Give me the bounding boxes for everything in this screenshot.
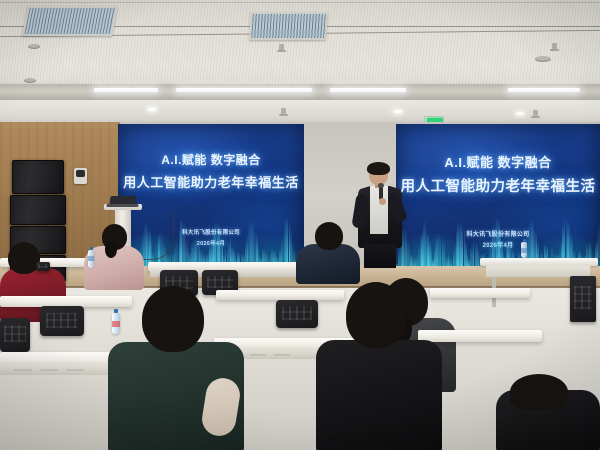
stacking-chair (276, 300, 318, 328)
downlight (394, 110, 402, 113)
attendee-head (315, 222, 343, 250)
screen-title-line1: A.I.赋能 数字融合 (118, 151, 304, 168)
attendee-head (142, 286, 204, 352)
attendee (316, 282, 442, 450)
ceiling-seam (0, 2, 600, 3)
speaker-cabinet (12, 160, 64, 194)
attendee-body (316, 340, 442, 450)
table-slot (14, 369, 32, 371)
water-bottle (521, 242, 527, 258)
phone-icon (36, 262, 50, 271)
presenter-hair (367, 162, 390, 175)
table-slot (274, 354, 290, 356)
ceiling-speaker-icon (24, 78, 36, 83)
water-bottle (88, 250, 94, 268)
table-slot (66, 369, 84, 371)
attendee (296, 222, 360, 282)
ceiling-speaker-icon (535, 56, 551, 62)
light-strip (330, 88, 406, 92)
presenter-legs (364, 244, 396, 268)
laptop-icon (110, 196, 137, 205)
screen-title-line2: 用人工智能助力老年幸福生活 (118, 172, 304, 191)
sprinkler-icon (281, 108, 286, 114)
light-strip (176, 88, 312, 92)
speaker-cabinet (10, 195, 66, 225)
hvac-vent-icon (249, 12, 328, 40)
attendee (108, 286, 244, 450)
led-screen-right: A.I.赋能 数字融合 用人工智能助力老年幸福生活 科大讯飞股份有限公司 202… (396, 124, 600, 269)
equipment-stand (570, 276, 596, 322)
ceiling-speaker-icon (28, 44, 40, 49)
downlight (516, 112, 524, 115)
sprinkler-icon (552, 43, 557, 51)
hvac-vent-icon (22, 6, 118, 36)
attendee-head (346, 282, 406, 348)
presenter (352, 164, 408, 268)
sprinkler-icon (533, 110, 538, 116)
attendee-body (296, 244, 360, 284)
presentation-room-photo: A.I.赋能 数字融合 用人工智能助力老年幸福生活 科大讯飞股份有限公司 202… (0, 0, 600, 450)
attendee (496, 374, 600, 450)
attendee-head (510, 374, 568, 410)
table-slot (40, 369, 58, 371)
screen-title-line1: A.I.赋能 数字融合 (396, 152, 600, 171)
stacking-chair (0, 318, 30, 352)
table-slot (250, 354, 266, 356)
presenter-hand (379, 198, 386, 205)
wall-camera-icon (74, 168, 87, 184)
side-table-top (480, 258, 598, 266)
light-strip (508, 88, 580, 92)
attendee-hair (105, 242, 117, 258)
screen-title-line2: 用人工智能助力老年幸福生活 (396, 175, 600, 196)
stacking-chair (40, 306, 84, 336)
sprinkler-icon (279, 44, 284, 52)
downlight (148, 108, 156, 111)
light-strip (94, 88, 158, 92)
